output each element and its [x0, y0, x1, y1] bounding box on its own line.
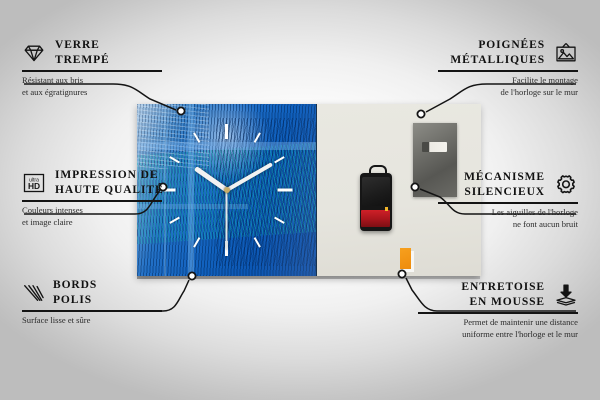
callout-title-line1: IMPRESSION DE — [55, 168, 164, 183]
callout-desc-line2: et image claire — [22, 217, 162, 229]
diamond-icon — [22, 41, 46, 65]
callout-rule — [438, 202, 578, 203]
callout-desc-line2: de l'horloge sur le mur — [438, 87, 578, 99]
callout-title-line1: POIGNÉES — [450, 38, 545, 53]
ultra-hd-icon: ultra HD — [22, 171, 46, 195]
foam-spacer-pad — [400, 248, 411, 269]
callout-desc-line2: uniforme entre l'horloge et le mur — [418, 329, 578, 341]
picture-frame-icon — [554, 41, 578, 65]
callout-polished-edges: BORDS POLIS Surface lisse et sûre — [22, 278, 162, 327]
hanger-loop — [369, 165, 387, 176]
battery — [361, 210, 390, 228]
gear-icon — [554, 173, 578, 197]
callout-desc-line1: Surface lisse et sûre — [22, 315, 162, 327]
callout-desc-line2: ne font aucun bruit — [438, 219, 578, 231]
svg-text:HD: HD — [28, 181, 40, 191]
callout-rule — [22, 310, 162, 311]
callout-title-line2: POLIS — [53, 293, 97, 308]
callout-rule — [22, 70, 162, 71]
callout-rule — [418, 312, 578, 313]
callout-title-line2: SILENCIEUX — [464, 185, 545, 200]
callout-title-line1: ENTRETOISE — [461, 280, 545, 295]
callout-desc-line1: Les aiguilles de l'horloge — [438, 207, 578, 219]
movement-housing — [362, 177, 390, 205]
arrow-down-layers-icon — [554, 283, 578, 307]
clock-movement — [360, 173, 392, 231]
callout-title-line2: HAUTE QUALITÉ — [55, 183, 164, 198]
callout-desc-line2: et aux égratignures — [22, 87, 162, 99]
callout-silent-mechanism: MÉCANISME SILENCIEUX Les aiguilles de l'… — [438, 170, 578, 230]
callout-tempered-glass: VERRE TREMPÉ Résistant aux bris et aux é… — [22, 38, 162, 98]
hanger-slot — [422, 142, 447, 152]
callout-desc-line1: Résistant aux bris — [22, 75, 162, 87]
infographic-canvas: VERRE TREMPÉ Résistant aux bris et aux é… — [0, 0, 600, 400]
callout-title-line2: EN MOUSSE — [461, 295, 545, 310]
callout-title-line2: MÉTALLIQUES — [450, 53, 545, 68]
callout-title-line1: BORDS — [53, 278, 97, 293]
diagonal-lines-icon — [22, 282, 44, 304]
callout-desc-line1: Facilite le montage — [438, 75, 578, 87]
callout-hd-print: ultra HD IMPRESSION DE HAUTE QUALITÉ Cou… — [22, 168, 162, 228]
product-image — [137, 104, 480, 276]
callout-title-line1: VERRE — [55, 38, 110, 53]
callout-title-line1: MÉCANISME — [464, 170, 545, 185]
callout-metal-handles: POIGNÉES MÉTALLIQUES Facilite le montage… — [438, 38, 578, 98]
callout-desc-line1: Couleurs intenses — [22, 205, 162, 217]
callout-foam-spacer: ENTRETOISE EN MOUSSE Permet de maintenir… — [418, 280, 578, 340]
callout-rule — [438, 70, 578, 71]
callout-title-line2: TREMPÉ — [55, 53, 110, 68]
callout-rule — [22, 200, 162, 201]
callout-desc-line1: Permet de maintenir une distance — [418, 317, 578, 329]
